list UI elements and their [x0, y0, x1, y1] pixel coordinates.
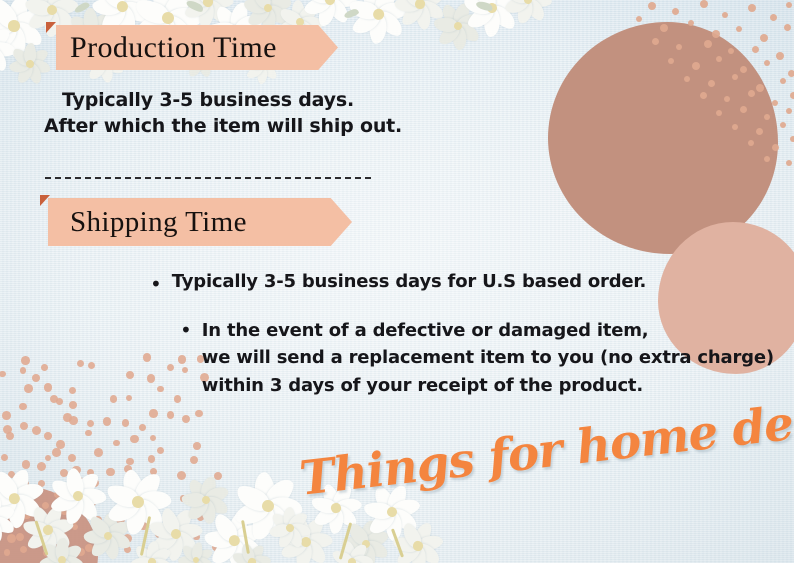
flower-petal-icon [451, 25, 468, 51]
decorative-dot-icon [195, 410, 203, 418]
organic-blob-corner-icon [0, 486, 98, 563]
flower-petal-icon [114, 0, 136, 8]
flower-petal-icon [330, 548, 354, 563]
decorative-dot-icon [102, 532, 110, 540]
flower-center-icon [103, 531, 113, 541]
flower-petal-icon [0, 16, 14, 35]
flower-petal-icon [124, 501, 147, 536]
banner-production-time-label: Production Time [70, 31, 277, 65]
decorative-dot-icon [786, 108, 792, 114]
flower-petal-icon [149, 0, 177, 21]
flower-petal-icon [15, 61, 35, 85]
flower-petal-icon [0, 25, 13, 53]
flower-petal-icon [278, 525, 309, 549]
production-line-1: Typically 3-5 business days. [62, 89, 354, 111]
flower-petal-icon [439, 2, 464, 30]
flower-petal-icon [394, 0, 420, 11]
flower-center-icon [170, 528, 183, 541]
flower-center-icon [7, 19, 21, 33]
decorative-dot-icon [126, 458, 133, 465]
flower-petal-icon [300, 537, 330, 563]
banner-shipping-time-label: Shipping Time [70, 206, 247, 239]
bullet-marker-icon: • [180, 320, 192, 340]
flower-center-icon [261, 499, 275, 513]
flower-petal-icon [487, 2, 519, 32]
decorative-dot-icon [139, 508, 145, 514]
decorative-dot-icon [157, 447, 164, 454]
flower-petal-icon [295, 1, 319, 26]
flower-petal-icon [150, 556, 174, 563]
flower-petal-icon [105, 518, 133, 542]
flower-petal-icon [203, 483, 231, 506]
flower-petal-icon [186, 477, 212, 504]
banner-fold-shipping-icon [40, 195, 50, 206]
flower-petal-icon [363, 538, 391, 561]
flower-petal-icon [289, 522, 312, 537]
decorative-dot-icon [32, 374, 40, 382]
flower-center-icon [415, 0, 426, 9]
decorative-dot-icon [185, 538, 193, 546]
flower-petal-icon [261, 474, 298, 513]
flower-center-icon [25, 59, 36, 70]
decorative-dot-icon [2, 411, 11, 420]
flower-petal-icon [472, 0, 499, 11]
decorative-dot-icon [159, 538, 168, 547]
flower-petal-icon [232, 551, 254, 563]
decorative-dot-icon [790, 136, 794, 142]
flower-petal-icon [503, 0, 531, 6]
flower-center-icon [452, 20, 464, 32]
flower-petal-icon [285, 525, 306, 549]
flower-petal-icon [490, 0, 521, 16]
flower-petal-icon [324, 0, 353, 26]
flower-center-icon [263, 3, 274, 14]
flower-petal-icon [243, 0, 269, 15]
shipping-bullet-1: • Typically 3-5 business days for U.S ba… [150, 271, 646, 292]
flower-petal-icon [207, 0, 234, 9]
flower-petal-icon [167, 534, 184, 562]
flower-petal-icon [132, 0, 171, 27]
flower-petal-icon [516, 0, 535, 25]
shipping-bullet-2-line-3: within 3 days of your receipt of the pro… [202, 375, 643, 396]
decorative-dot-icon [87, 469, 95, 477]
flower-petal-icon [300, 515, 328, 546]
flower-petal-icon [400, 520, 425, 549]
flower-petal-icon [268, 496, 303, 517]
decorative-dot-icon [193, 442, 201, 450]
decorative-dot-icon [212, 543, 220, 551]
shipping-bullet-2-line-1: In the event of a defective or damaged i… [202, 320, 649, 341]
flower-petal-icon [199, 475, 217, 501]
flower-petal-icon [302, 0, 333, 7]
flower-petal-icon [149, 545, 173, 563]
flower-petal-icon [523, 0, 549, 23]
flower-petal-icon [392, 534, 420, 553]
decorative-dot-icon [144, 486, 150, 492]
decorative-dot-icon [50, 395, 58, 403]
flower-petal-icon [348, 558, 371, 563]
decorative-dot-icon [155, 530, 163, 538]
flower-petal-icon [226, 509, 250, 542]
decorative-dot-icon [20, 367, 26, 373]
decorative-dot-icon [197, 513, 205, 521]
decorative-dot-icon [69, 401, 77, 409]
flower-petal-icon [26, 46, 50, 68]
decorative-dot-icon [0, 371, 6, 377]
banner-fold-production-icon [46, 22, 56, 33]
flower-petal-icon [247, 542, 267, 563]
decorative-dot-icon [150, 468, 157, 475]
flower-petal-icon [434, 17, 459, 33]
decorative-dot-icon [77, 360, 84, 367]
decorative-dot-icon [60, 469, 68, 477]
flower-petal-icon [349, 7, 383, 38]
flower-petal-icon [384, 511, 403, 541]
organic-blob-large-icon [548, 22, 778, 254]
decorative-dot-icon [68, 454, 76, 462]
decorative-dot-icon [197, 496, 203, 502]
decorative-dot-icon [133, 485, 139, 491]
flower-petal-icon [251, 554, 272, 563]
flower-stem-icon [339, 522, 352, 559]
dashed-divider [45, 177, 371, 179]
decorative-dot-icon [45, 455, 51, 461]
decorative-dot-icon [786, 2, 792, 8]
flower-petal-icon [136, 559, 157, 563]
flower-petal-icon [231, 520, 265, 547]
flower-petal-icon [5, 24, 28, 58]
flower-petal-icon [394, 541, 423, 563]
flower-petal-icon [388, 505, 421, 534]
flower-petal-icon [311, 502, 340, 529]
flower-center-icon [361, 539, 371, 549]
flower-petal-icon [180, 543, 200, 563]
decorative-dot-icon [22, 460, 30, 468]
flower-petal-icon [264, 2, 292, 27]
flower-petal-icon [398, 0, 425, 28]
decorative-dot-icon [776, 52, 784, 60]
flower-petal-icon [266, 0, 293, 14]
decorative-dot-icon [167, 364, 175, 372]
flower-petal-icon [324, 0, 353, 5]
decorative-dot-icon [41, 364, 48, 371]
decorative-dot-icon [780, 78, 786, 84]
flower-petal-icon [182, 0, 211, 21]
decorative-dot-icon [722, 12, 728, 18]
flower-petal-icon [104, 482, 141, 511]
decorative-dot-icon [24, 384, 33, 393]
flower-petal-icon [417, 0, 446, 22]
flower-petal-icon [10, 18, 46, 49]
flower-petal-icon [148, 519, 178, 541]
decorative-dot-icon [130, 435, 139, 444]
flower-petal-icon [130, 469, 164, 507]
decorative-dot-icon [88, 362, 95, 369]
brand-signature-script: Things for home design [297, 384, 794, 507]
flower-petal-icon [193, 547, 214, 563]
flower-petal-icon [352, 555, 374, 563]
flower-center-icon [330, 502, 342, 514]
decorative-dot-icon [56, 398, 63, 405]
decorative-dot-icon [784, 24, 791, 31]
flower-petal-icon [417, 0, 446, 11]
flower-petal-icon [169, 507, 195, 538]
decorative-dot-icon [32, 426, 41, 435]
flower-petal-icon [33, 0, 59, 13]
decorative-dot-icon [174, 535, 182, 543]
flower-petal-icon [191, 558, 206, 563]
flower-center-icon [116, 0, 128, 12]
flower-petal-icon [363, 500, 393, 520]
flower-petal-icon [413, 0, 433, 6]
flower-petal-icon [370, 0, 399, 18]
decorative-dot-icon [141, 499, 149, 507]
decorative-dot-icon [110, 395, 118, 403]
flower-petal-icon [347, 541, 369, 563]
banner-shipping-time: Shipping Time [48, 198, 352, 246]
flower-petal-icon [119, 0, 153, 26]
flower-petal-icon [233, 557, 255, 563]
flower-petal-icon [150, 528, 181, 556]
flower-petal-icon [5, 0, 31, 28]
flower-petal-icon [106, 530, 133, 551]
decorative-dot-icon [139, 522, 147, 530]
flower-petal-icon [171, 528, 201, 557]
flower-petal-icon [252, 470, 277, 507]
flower-petal-icon [465, 2, 497, 32]
shipping-bullet-2-line-2: we will send a replacement item to you (… [202, 347, 774, 368]
flower-petal-icon [29, 58, 52, 74]
decorative-dot-icon [764, 60, 770, 66]
decorative-dot-icon [19, 403, 27, 411]
flower-petal-icon [119, 468, 147, 505]
decorative-dot-icon [736, 26, 742, 32]
flower-petal-icon [24, 0, 54, 17]
flower-petal-icon [455, 20, 483, 44]
production-line-2: After which the item will ship out. [44, 115, 402, 137]
decorative-dot-icon [98, 535, 105, 542]
flower-center-icon [323, 0, 337, 7]
flower-petal-icon [331, 557, 355, 563]
decorative-dot-icon [780, 122, 786, 128]
flower-petal-icon [204, 530, 235, 548]
flower-petal-icon [316, 0, 337, 28]
flower-petal-icon [178, 555, 197, 563]
leaf-icon [343, 8, 359, 19]
decorative-dot-icon [72, 466, 80, 474]
flower-center-icon [147, 557, 158, 563]
flower-center-icon [371, 7, 385, 21]
decorative-dot-icon [786, 160, 792, 166]
flower-center-icon [285, 523, 296, 534]
flower-center-icon [247, 557, 256, 563]
decorative-dot-icon [69, 416, 78, 425]
flower-petal-icon [146, 541, 160, 563]
decorative-dot-icon [6, 432, 14, 440]
decorative-dot-icon [1, 454, 8, 461]
flower-petal-icon [203, 0, 231, 25]
flower-center-icon [191, 555, 200, 563]
flower-petal-icon [232, 497, 271, 529]
flower-petal-icon [317, 0, 338, 2]
decorative-dot-icon [87, 420, 94, 427]
decorative-dot-icon [636, 16, 642, 22]
flower-petal-icon [414, 540, 443, 563]
flower-petal-icon [197, 1, 215, 28]
flower-petal-icon [182, 493, 206, 507]
flower-center-icon [131, 495, 146, 510]
decorative-dot-icon [113, 440, 119, 446]
decorative-dot-icon [85, 430, 91, 436]
flower-petal-icon [341, 540, 358, 563]
flower-petal-icon [305, 532, 333, 549]
flower-petal-icon [92, 0, 123, 16]
decorative-dot-icon [150, 435, 157, 442]
flower-petal-icon [186, 496, 212, 523]
decorative-dot-icon [124, 546, 131, 553]
flower-petal-icon [277, 6, 303, 28]
flower-petal-icon [158, 506, 183, 537]
flower-petal-icon [398, 0, 425, 8]
decorative-dot-icon [760, 34, 768, 42]
flower-center-icon [71, 489, 85, 503]
flower-petal-icon [359, 519, 378, 545]
flower-petal-icon [248, 558, 270, 563]
leaf-icon [185, 0, 205, 14]
flower-petal-icon [210, 511, 241, 545]
flower-petal-icon [269, 511, 293, 533]
poster-canvas: Production Time Typically 3-5 business d… [0, 0, 794, 563]
bullet-marker-icon: • [150, 274, 162, 294]
flower-petal-icon [102, 534, 122, 561]
flower-petal-icon [25, 61, 45, 85]
decorative-dot-icon [147, 546, 155, 554]
decorative-dot-icon [123, 501, 132, 510]
flower-petal-icon [137, 490, 172, 512]
flower-petal-icon [160, 0, 196, 24]
shipping-bullet-1-line-1: Typically 3-5 business days for U.S base… [172, 271, 646, 292]
flower-petal-icon [24, 43, 36, 64]
flower-petal-icon [462, 0, 493, 16]
flower-petal-icon [45, 0, 70, 13]
flower-center-icon [299, 535, 312, 548]
decorative-dot-icon [90, 499, 96, 505]
flower-petal-icon [358, 0, 386, 17]
flower-petal-icon [283, 507, 296, 529]
flower-petal-icon [233, 481, 273, 515]
flower-petal-icon [376, 0, 409, 22]
flower-petal-icon [131, 496, 167, 533]
flower-petal-icon [199, 498, 218, 524]
decorative-dot-icon [177, 471, 186, 480]
flower-petal-icon [193, 0, 214, 4]
decorative-dot-icon [79, 502, 87, 510]
flower-petal-icon [260, 500, 296, 539]
flower-petal-icon [50, 0, 80, 17]
decorative-dot-icon [788, 70, 794, 77]
decorative-dot-icon [38, 480, 45, 487]
flower-petal-icon [291, 514, 314, 544]
decorative-dot-icon [772, 100, 778, 106]
flower-center-icon [202, 0, 214, 8]
decorative-dot-icon [106, 468, 115, 477]
flower-petal-icon [191, 541, 204, 560]
decorative-dot-icon [94, 448, 103, 457]
decorative-dot-icon [90, 479, 98, 487]
flower-petal-icon [331, 503, 360, 531]
decorative-dot-icon [103, 417, 112, 426]
flower-center-icon [412, 540, 424, 552]
flower-petal-icon [342, 537, 366, 551]
decorative-dot-icon [69, 387, 77, 395]
flower-petal-icon [72, 469, 102, 501]
decorative-dot-icon [193, 534, 199, 540]
decorative-dot-icon [124, 465, 132, 473]
leaf-icon [475, 0, 494, 13]
flower-petal-icon [330, 0, 357, 8]
flower-petal-icon [101, 511, 118, 537]
flower-petal-icon [78, 488, 107, 504]
flower-petal-icon [175, 522, 204, 542]
decorative-dot-icon [109, 491, 116, 498]
flower-petal-icon [503, 0, 531, 17]
flower-petal-icon [182, 557, 201, 563]
flower-center-icon [227, 533, 240, 546]
flower-center-icon [385, 505, 399, 519]
flower-petal-icon [346, 521, 372, 548]
flower-petal-icon [363, 528, 391, 551]
flower-petal-icon [0, 44, 10, 73]
flower-petal-icon [485, 0, 512, 12]
decorative-dot-icon [56, 440, 65, 449]
flower-petal-icon [240, 542, 257, 563]
flower-petal-icon [437, 21, 463, 48]
flower-petal-icon [516, 0, 535, 2]
decorative-dot-icon [116, 515, 125, 524]
flower-petal-icon [484, 8, 500, 37]
flower-petal-icon [359, 543, 378, 563]
decorative-dot-icon [748, 4, 756, 12]
flower-center-icon [523, 0, 533, 5]
decorative-dot-icon [8, 471, 15, 478]
decorative-dot-icon [148, 455, 155, 462]
flower-petal-icon [0, 20, 21, 55]
decorative-dot-icon [37, 462, 46, 471]
flower-center-icon [347, 557, 356, 563]
decorative-dot-icon [752, 46, 759, 53]
decorative-dot-icon [672, 8, 679, 15]
decorative-dot-icon [77, 477, 83, 483]
flower-petal-icon [276, 526, 295, 550]
flower-petal-icon [10, 46, 34, 68]
decorative-dot-icon [93, 516, 101, 524]
decorative-dot-icon [159, 500, 165, 506]
flower-petal-icon [346, 540, 372, 563]
flower-petal-icon [202, 0, 228, 6]
flower-petal-icon [105, 494, 143, 527]
decorative-dot-icon [21, 356, 30, 365]
flower-petal-icon [295, 541, 314, 563]
flower-center-icon [161, 11, 176, 26]
flower-petal-icon [182, 0, 211, 9]
decorative-dot-icon [20, 422, 28, 430]
decorative-dot-icon [147, 374, 155, 382]
flower-center-icon [485, 1, 498, 14]
flower-petal-icon [416, 532, 444, 553]
flower-petal-icon [286, 510, 310, 533]
flower-petal-icon [411, 546, 426, 563]
flower-petal-icon [452, 1, 472, 28]
